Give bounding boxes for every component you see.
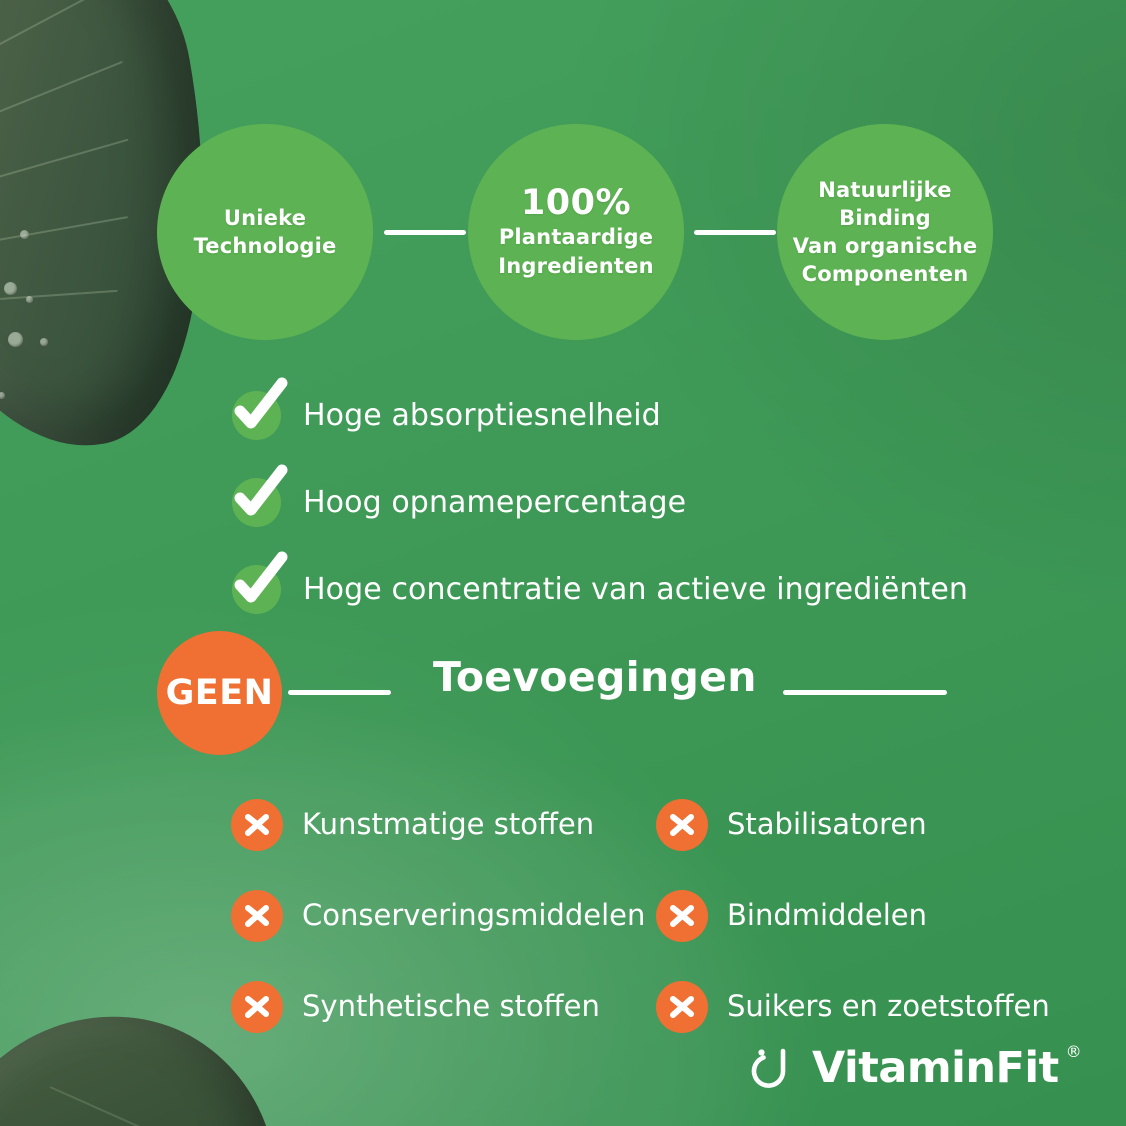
- connector-line-1: [384, 230, 466, 235]
- exclusion-item[interactable]: Conserveringsmiddelen: [231, 890, 656, 942]
- exclusion-label: Bindmiddelen: [727, 901, 927, 930]
- feature-circle-text: Unieke Technologie: [194, 204, 337, 260]
- exclusion-item[interactable]: Bindmiddelen: [656, 890, 927, 942]
- exclusion-item[interactable]: Synthetische stoffen: [231, 981, 656, 1033]
- exclusion-item[interactable]: Suikers en zoetstoffen: [656, 981, 1050, 1033]
- benefit-item[interactable]: Hoge concentratie van actieve ingrediënt…: [232, 546, 1092, 633]
- exclusion-item[interactable]: Stabilisatoren: [656, 799, 927, 851]
- benefit-label: Hoge concentratie van actieve ingrediënt…: [303, 575, 968, 605]
- exclusion-label: Stabilisatoren: [727, 810, 927, 839]
- exclusion-label: Suikers en zoetstoffen: [727, 992, 1050, 1021]
- check-icon: [232, 478, 281, 527]
- feature-circle-natuurlijke-binding[interactable]: Natuurlijke Binding Van organische Compo…: [777, 124, 993, 340]
- feature-line-2: Technologie: [194, 234, 337, 258]
- feature-emphasis-percent: 100%: [498, 184, 653, 223]
- benefit-label: Hoge absorptiesnelheid: [303, 401, 661, 431]
- leaf-blade-small: [0, 1019, 28, 1126]
- feature-line-1: Natuurlijke: [818, 178, 951, 202]
- trademark-symbol: ®: [1066, 1044, 1082, 1060]
- feature-line-4: Componenten: [802, 262, 969, 286]
- geen-badge-label: GEEN: [166, 673, 274, 713]
- leaf-vein: [0, 0, 110, 62]
- exclusion-label: Synthetische stoffen: [302, 992, 600, 1021]
- exclusion-label: Kunstmatige stoffen: [302, 810, 594, 839]
- check-icon: [232, 391, 281, 440]
- no-additives-header: GEEN Toevoegingen: [157, 631, 1037, 755]
- feature-line-2: Ingredienten: [498, 254, 653, 278]
- x-icon: [231, 981, 283, 1033]
- feature-circle-text: Natuurlijke Binding Van organische Compo…: [793, 176, 978, 289]
- exclusions-grid: Kunstmatige stoffen Stabilisatoren: [231, 779, 1111, 1052]
- feature-line-3: Van organische: [793, 234, 978, 258]
- leaf-vein: [0, 0, 85, 2]
- brand-logo[interactable]: VitaminFit ®: [747, 1042, 1082, 1094]
- feature-circle-text: 100% Plantaardige Ingredienten: [498, 184, 653, 279]
- benefit-label: Hoog opnamepercentage: [303, 488, 686, 518]
- exclusion-label: Conserveringsmiddelen: [302, 901, 645, 930]
- check-icon: [232, 565, 281, 614]
- geen-badge: GEEN: [157, 631, 282, 755]
- feature-line-1: Unieke: [224, 206, 306, 230]
- divider-line-right: [783, 690, 947, 695]
- exclusions-row: Conserveringsmiddelen Bindmiddelen: [231, 870, 1111, 961]
- feature-line-1: Plantaardige: [499, 225, 653, 249]
- x-icon: [656, 799, 708, 851]
- benefits-list: Hoge absorptiesnelheid Hoog opnamepercen…: [232, 372, 1092, 633]
- x-icon: [656, 981, 708, 1033]
- exclusion-item[interactable]: Kunstmatige stoffen: [231, 799, 656, 851]
- feature-circle-unieke-technologie[interactable]: Unieke Technologie: [157, 124, 373, 340]
- droplet-icon: [747, 1042, 799, 1094]
- x-icon: [656, 890, 708, 942]
- leaf-vein: [50, 1086, 215, 1126]
- benefit-item[interactable]: Hoge absorptiesnelheid: [232, 372, 1092, 459]
- infographic-poster: Unieke Technologie 100% Plantaardige Ing…: [0, 0, 1126, 1126]
- benefit-item[interactable]: Hoog opnamepercentage: [232, 459, 1092, 546]
- leaf-vein: [0, 61, 123, 122]
- brand-name: VitaminFit: [812, 1047, 1059, 1090]
- x-icon: [231, 890, 283, 942]
- divider-line-left: [288, 690, 391, 695]
- exclusions-row: Kunstmatige stoffen Stabilisatoren: [231, 779, 1111, 870]
- x-icon: [231, 799, 283, 851]
- feature-circle-row: Unieke Technologie 100% Plantaardige Ing…: [0, 124, 1126, 342]
- no-additives-title: Toevoegingen: [433, 657, 757, 698]
- water-droplet: [0, 392, 5, 399]
- connector-line-2: [694, 230, 776, 235]
- feature-circle-plantaardige-ingredienten[interactable]: 100% Plantaardige Ingredienten: [468, 124, 684, 340]
- feature-line-2: Binding: [839, 206, 931, 230]
- exclusions-row: Synthetische stoffen Suikers en zoetstof…: [231, 961, 1111, 1052]
